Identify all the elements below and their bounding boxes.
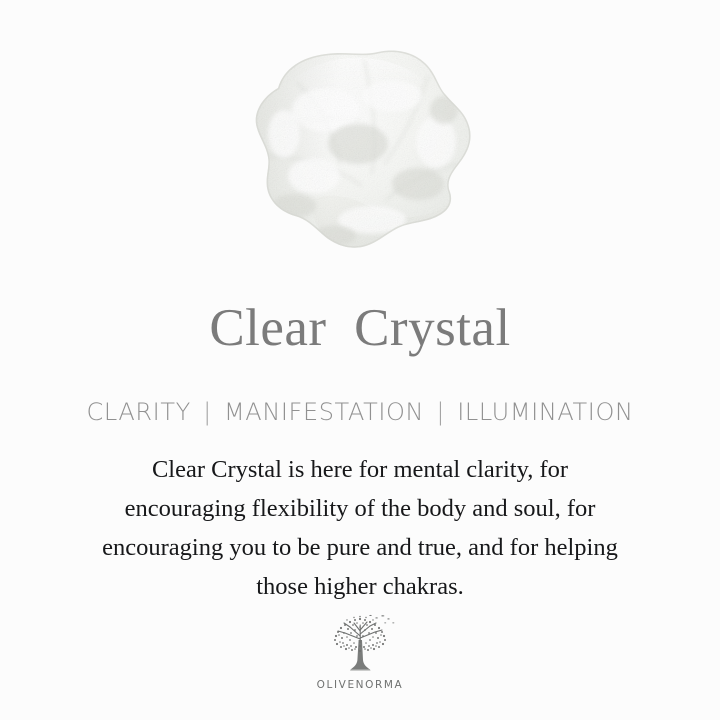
crystal-body [222, 24, 492, 276]
brand-logo: OLIVENORMA [0, 614, 720, 691]
clear-crystal-image [222, 24, 492, 276]
brand-name: OLIVENORMA [0, 679, 720, 691]
olive-tree-logo-icon [317, 614, 403, 676]
keyword-manifestation: MANIFESTATION [224, 398, 424, 426]
product-keywords: CLARITY | MANIFESTATION | ILLUMINATION [0, 397, 720, 427]
raw-clear-quartz-crystal-image [222, 24, 492, 276]
keyword-separator-1: | [199, 398, 216, 426]
description-line: those higher chakras. [50, 567, 670, 606]
description-line: encouraging you to be pure and true, and… [50, 528, 670, 567]
description-line: Clear Crystal is here for mental clarity… [50, 450, 670, 489]
keyword-illumination: ILLUMINATION [457, 398, 633, 426]
product-description: Clear Crystal is here for mental clarity… [50, 450, 670, 606]
product-image-area [0, 14, 720, 282]
description-line: encouraging flexibility of the body and … [50, 489, 670, 528]
product-title: Clear Crystal [0, 299, 720, 357]
product-info-card: Clear Crystal CLARITY | MANIFESTATION | … [0, 0, 720, 720]
keyword-separator-2: | [432, 398, 449, 426]
keyword-clarity: CLARITY [86, 398, 190, 426]
